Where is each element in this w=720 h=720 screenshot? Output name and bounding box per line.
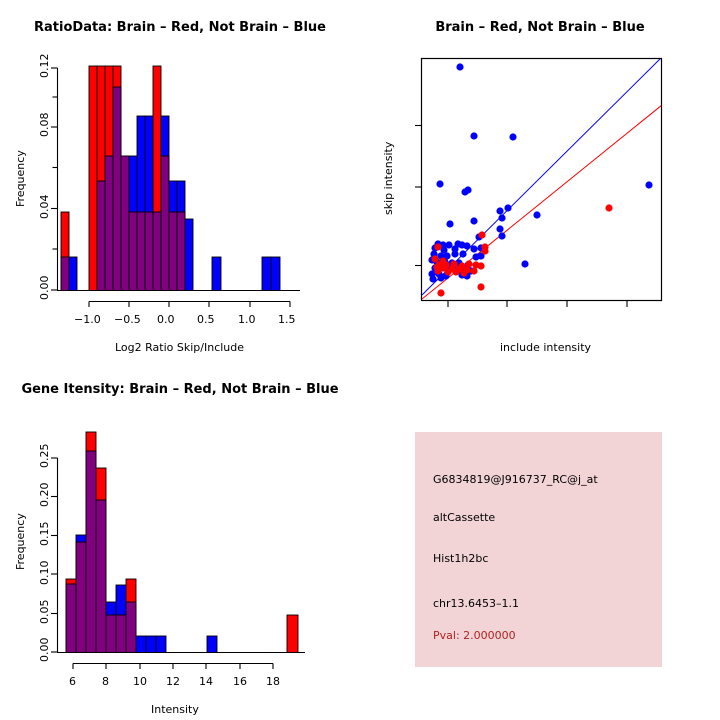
- gene-xtick-12: 12: [166, 675, 180, 688]
- ratio-histogram-canvas: [0, 0, 360, 360]
- plot-page: RatioData: Brain – Red, Not Brain – Blue: [0, 0, 720, 720]
- scatter-xlabel: include intensity: [500, 341, 591, 354]
- gene-xtick-14: 14: [199, 675, 213, 688]
- gene-histogram-canvas: [0, 360, 360, 720]
- ratio-ytick-0.04: 0.04: [38, 195, 51, 220]
- ratio-x-axis: [89, 302, 290, 308]
- gene-ytick-0.15: 0.15: [38, 522, 51, 547]
- gene-xtick-18: 18: [266, 675, 280, 688]
- scatter-canvas: [360, 0, 720, 360]
- gene-ytick-0.05: 0.05: [38, 600, 51, 625]
- ratio-ytick-0.08: 0.08: [38, 113, 51, 138]
- ratio-xlabel: Log2 Ratio Skip/Include: [115, 341, 244, 354]
- info-gene-symbol: Hist1h2bc: [433, 552, 488, 565]
- gene-info-panel: G6834819@J916737_RC@j_at altCassette His…: [415, 432, 662, 667]
- info-pval: Pval: 2.000000: [433, 629, 516, 642]
- gene-histogram-title: Gene Itensity: Brain – Red, Not Brain – …: [0, 382, 360, 397]
- ratio-xtick-1.0: 1.0: [238, 313, 256, 326]
- info-probe-id: G6834819@J916737_RC@j_at: [433, 473, 598, 486]
- gene-ytick-0.25: 0.25: [38, 444, 51, 469]
- ratio-xtick-1.5: 1.5: [278, 313, 296, 326]
- gene-ytick-0.10: 0.10: [38, 561, 51, 586]
- ratio-histogram-bars: [61, 66, 280, 291]
- gene-xtick-10: 10: [133, 675, 147, 688]
- gene-y-axis: [51, 458, 58, 652]
- ratio-ytick-0.00: 0.00: [38, 276, 51, 301]
- gene-xtick-8: 8: [102, 675, 109, 688]
- ratio-xtick--1.0: −1.0: [74, 313, 101, 326]
- info-event-type: altCassette: [433, 511, 495, 524]
- gene-xlabel: Intensity: [151, 703, 199, 716]
- ratio-xtick-0.0: 0.0: [157, 313, 175, 326]
- gene-histogram-bars: [66, 432, 298, 653]
- info-locus: chr13.6453–1.1: [433, 597, 519, 610]
- gene-xtick-16: 16: [233, 675, 247, 688]
- scatter-title: Brain – Red, Not Brain – Blue: [360, 20, 720, 35]
- scatter-blue-fit-line: [422, 57, 662, 295]
- ratio-ytick-0.12: 0.12: [38, 54, 51, 79]
- panel-ratio-histogram: RatioData: Brain – Red, Not Brain – Blue: [0, 0, 360, 360]
- ratio-xtick-0.5: 0.5: [197, 313, 215, 326]
- ratio-xtick--0.5: −0.5: [114, 313, 141, 326]
- gene-x-axis: [73, 664, 273, 670]
- gene-ytick-0.20: 0.20: [38, 483, 51, 508]
- panel-intensity-scatter: Brain – Red, Not Brain – Blue: [360, 0, 720, 360]
- ratio-ylabel: Frequency: [14, 150, 27, 207]
- ratio-y-axis: [51, 68, 58, 290]
- scatter-points-not-brain: [428, 63, 652, 282]
- scatter-x-axis-ticks: [448, 301, 627, 308]
- scatter-ylabel: skip intensity: [382, 142, 395, 215]
- gene-ytick-0.00: 0.00: [38, 638, 51, 663]
- panel-gene-intensity-histogram: Gene Itensity: Brain – Red, Not Brain – …: [0, 360, 360, 720]
- scatter-y-axis-ticks: [415, 126, 422, 266]
- ratio-histogram-title: RatioData: Brain – Red, Not Brain – Blue: [0, 20, 360, 35]
- gene-ylabel: Frequency: [14, 513, 27, 570]
- gene-xtick-6: 6: [69, 675, 76, 688]
